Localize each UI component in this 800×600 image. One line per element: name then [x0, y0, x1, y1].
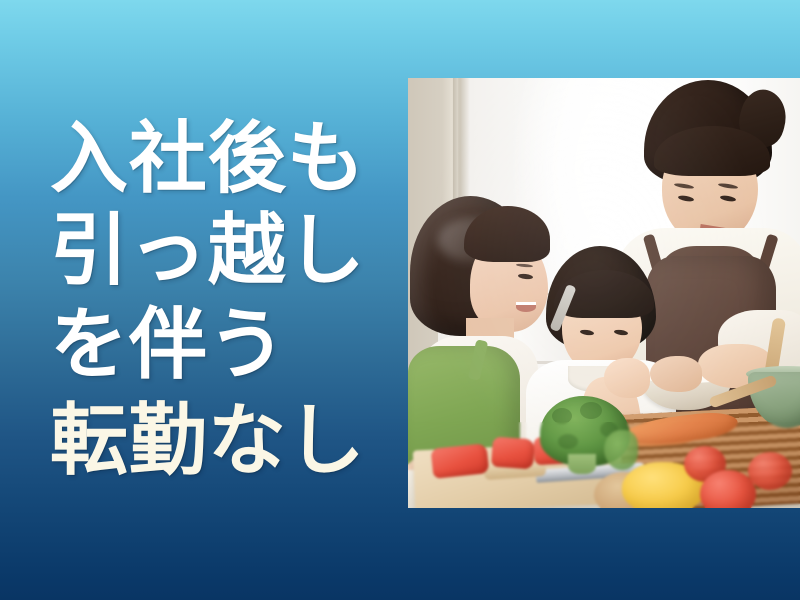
headline-line-1: 入社後も	[50, 115, 366, 203]
tomato	[748, 452, 792, 490]
mother-smile	[516, 302, 536, 312]
father-hand-left	[650, 356, 702, 392]
family-cooking-photo	[408, 78, 800, 508]
headline-line-2: 引っ越し	[50, 207, 366, 295]
child-hand	[604, 358, 650, 398]
broccoli-floret	[558, 434, 578, 449]
headline-line-3: を伴う	[50, 301, 287, 389]
tomato-slice	[491, 437, 535, 470]
tomato-slice	[431, 443, 490, 479]
broccoli-floret	[580, 402, 602, 419]
broccoli-floret	[552, 408, 572, 424]
broccoli-stem	[568, 454, 596, 474]
headline-line-4: 転勤なし	[50, 397, 366, 485]
headline-block: 入社後も 引っ越し を伴う 転勤なし	[0, 0, 400, 600]
recruitment-banner: 入社後も 引っ越し を伴う 転勤なし	[0, 0, 800, 600]
photo-content	[408, 78, 800, 508]
herb-leaves	[604, 430, 638, 470]
